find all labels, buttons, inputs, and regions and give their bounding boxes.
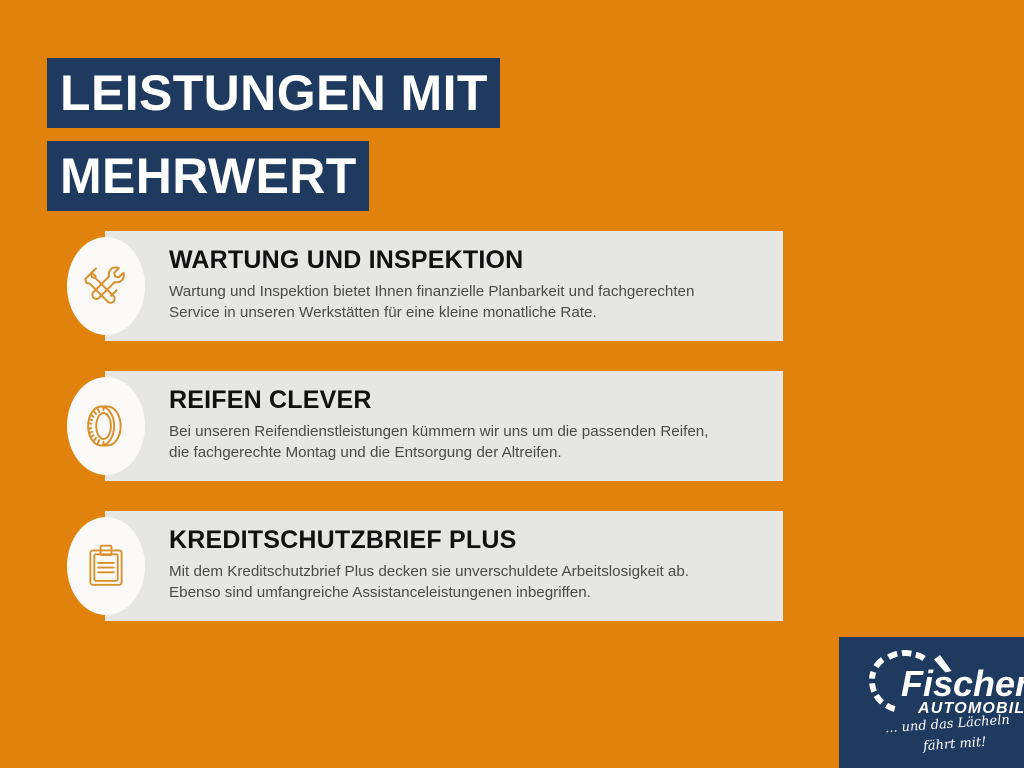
logo-wordmark: Fischer AUTOMOBILE: [839, 641, 1024, 719]
card-title: WARTUNG UND INSPEKTION: [169, 247, 774, 275]
card-title: REIFEN CLEVER: [169, 387, 774, 415]
clipboard-icon: [67, 517, 145, 615]
card-text: REIFEN CLEVER Bei unseren Reifendienstle…: [169, 387, 774, 464]
slide-root: LEISTUNGEN MIT MEHRWERT WARTUNG UND INSP…: [0, 0, 1024, 768]
fischer-automobile-logo[interactable]: Fischer AUTOMOBILE ... und das Lächeln f…: [839, 637, 1024, 768]
tire-icon: [67, 377, 145, 475]
headline-line-2: MEHRWERT: [47, 141, 369, 211]
card-body-line: Ebenso sind umfangreiche Assistanceleist…: [169, 582, 769, 604]
card-title: KREDITSCHUTZBRIEF PLUS: [169, 527, 774, 555]
card-body-line: Service in unseren Werkstätten für eine …: [169, 302, 769, 324]
wrench-screwdriver-icon: [67, 237, 145, 335]
service-card[interactable]: WARTUNG UND INSPEKTION Wartung und Inspe…: [0, 231, 1024, 341]
card-body-line: Mit dem Kreditschutzbrief Plus decken si…: [169, 561, 769, 583]
service-card-list: WARTUNG UND INSPEKTION Wartung und Inspe…: [0, 231, 1024, 651]
service-card[interactable]: KREDITSCHUTZBRIEF PLUS Mit dem Kreditsch…: [0, 511, 1024, 621]
card-body-line: Bei unseren Reifendienstleistungen kümme…: [169, 421, 769, 443]
service-card[interactable]: REIFEN CLEVER Bei unseren Reifendienstle…: [0, 371, 1024, 481]
card-text: KREDITSCHUTZBRIEF PLUS Mit dem Kreditsch…: [169, 527, 774, 604]
card-body: Wartung und Inspektion bietet Ihnen fina…: [169, 281, 769, 324]
page-title: LEISTUNGEN MIT MEHRWERT: [47, 58, 500, 211]
card-text: WARTUNG UND INSPEKTION Wartung und Inspe…: [169, 247, 774, 324]
logo-brand-text: Fischer: [901, 663, 1024, 704]
card-body: Bei unseren Reifendienstleistungen kümme…: [169, 421, 769, 464]
logo-tagline-line-2: fährt mit!: [923, 735, 987, 754]
logo-tagline: ... und das Lächeln fährt mit!: [839, 715, 1024, 768]
card-body-line: Wartung und Inspektion bietet Ihnen fina…: [169, 281, 769, 303]
card-body-line: die fachgerechte Montag und die Entsorgu…: [169, 442, 769, 464]
logo-tagline-line-1: ... und das Lächeln: [885, 713, 1011, 737]
card-body: Mit dem Kreditschutzbrief Plus decken si…: [169, 561, 769, 604]
headline-line-1: LEISTUNGEN MIT: [47, 58, 500, 128]
